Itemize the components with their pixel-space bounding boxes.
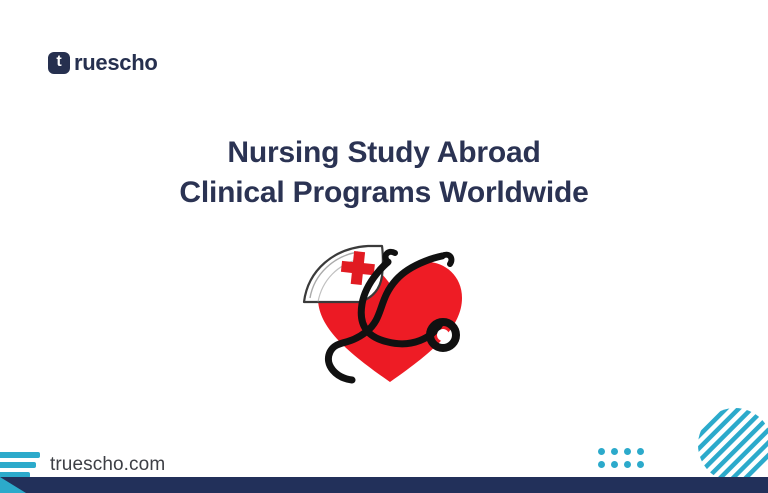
bottom-bar	[0, 477, 768, 493]
dot	[624, 461, 631, 468]
footer-bar	[0, 452, 40, 458]
dot	[611, 448, 618, 455]
bottom-bar-accent-triangle	[0, 477, 26, 493]
striped-circle-decoration	[698, 408, 768, 482]
title-line-2: Clinical Programs Worldwide	[0, 173, 768, 213]
logo-badge-icon: t	[48, 52, 70, 74]
dot	[637, 448, 644, 455]
brand-name-text: ruescho	[74, 52, 157, 74]
dot	[637, 461, 644, 468]
dot	[624, 448, 631, 455]
page-title: Nursing Study Abroad Clinical Programs W…	[0, 133, 768, 213]
dot-grid-decoration	[598, 448, 644, 468]
slide-canvas: t ruescho Nursing Study Abroad Clinical …	[0, 0, 768, 493]
footer-bar	[0, 462, 36, 468]
brand-logo[interactable]: t ruescho	[48, 52, 157, 74]
footer-url-text[interactable]: truescho.com	[50, 453, 165, 477]
dot	[598, 448, 605, 455]
dot	[598, 461, 605, 468]
title-line-1: Nursing Study Abroad	[0, 133, 768, 173]
dot	[611, 461, 618, 468]
nursing-heart-stethoscope-icon	[292, 232, 488, 394]
